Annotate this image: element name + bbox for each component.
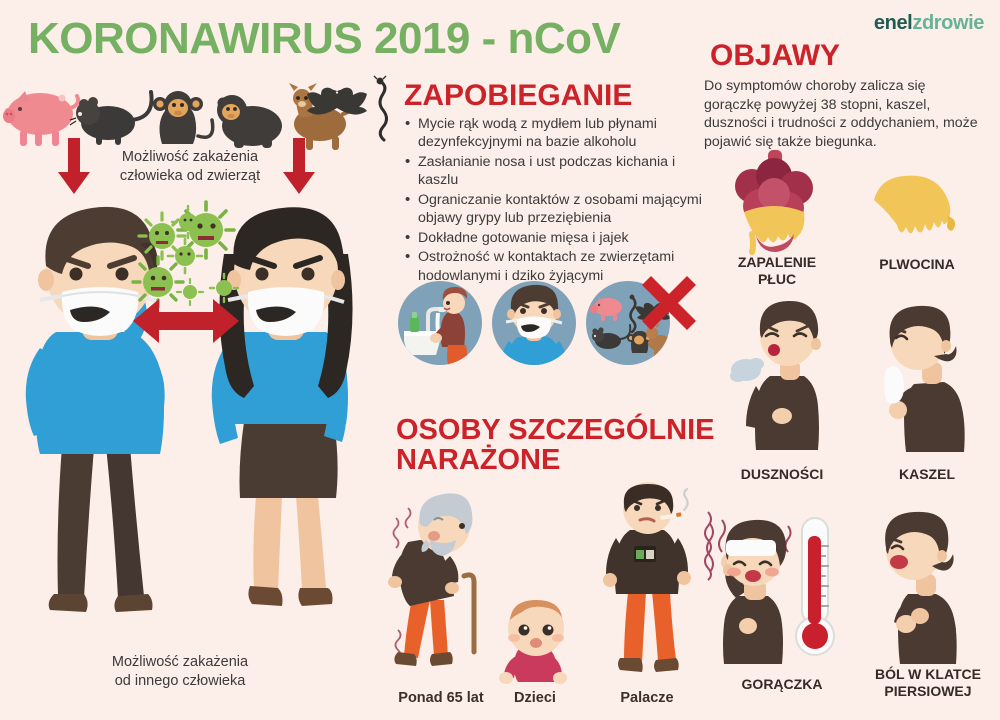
human-transmission-arrow (133, 295, 239, 347)
symptom-label: DUSZNOŚCI (712, 466, 852, 483)
handwashing-icon (398, 281, 482, 365)
monkey-icon (153, 91, 213, 144)
at-risk-heading-line1: OSOBY SZCZEGÓLNIE (396, 415, 716, 445)
symptoms-description: Do symptomów choroby zalicza się gorączk… (704, 77, 984, 152)
prevention-item: Dokładne gotowanie mięsa i jajek (404, 229, 704, 247)
at-risk-heading: OSOBY SZCZEGÓLNIE NARAŻONE (396, 415, 716, 475)
symptom-label: ZAPALENIE PŁUC (712, 254, 842, 287)
phlegm-icon (862, 170, 962, 260)
pneumonia-icon (722, 150, 832, 260)
prevention-item: Zasłanianie nosa i ust podczas kichania … (404, 153, 704, 190)
symptom-label-line2: PIERSIOWEJ (858, 683, 998, 700)
symptoms-heading: OBJAWY (710, 40, 840, 71)
animal-transmission-caption: Możliwość zakażenia człowieka od zwierzą… (95, 148, 285, 187)
symptom-label: KASZEL (862, 466, 992, 483)
logo-part-enel: enel (874, 12, 912, 34)
snake-icon (366, 78, 392, 142)
prevention-item: Mycie rąk wodą z mydłem lub płynami dezy… (404, 115, 704, 152)
symptom-label-line1: BÓL W KLATCE (858, 666, 998, 683)
infographic-poster: KORONAWIRUS 2019 - nCoV enelzdrowie (0, 0, 1000, 720)
cough-icon (862, 300, 972, 452)
symptom-label: PLWOCINA (852, 256, 982, 273)
human-transmission-caption: Możliwość zakażenia od innego człowieka (65, 653, 295, 692)
bat-icon (305, 84, 369, 134)
logo-part-zdrowie: zdrowie (912, 12, 984, 34)
human-caption-line1: Możliwość zakażenia (65, 653, 295, 672)
symptom-label: GORĄCZKA (712, 676, 852, 693)
human-caption-line2: od innego człowieka (65, 672, 295, 691)
symptom-label: BÓL W KLATCE PIERSIOWEJ (858, 666, 998, 699)
page-title: KORONAWIRUS 2019 - nCoV (28, 14, 620, 64)
smoker-icon (596, 484, 706, 680)
gorilla-icon (217, 95, 282, 148)
at-risk-label: Palacze (592, 690, 702, 706)
chest-pain-icon (862, 512, 982, 664)
fever-icon (702, 512, 852, 664)
face-mask-icon (492, 281, 576, 365)
at-risk-heading-line2: NARAŻONE (396, 445, 716, 475)
brand-logo: enelzdrowie (874, 12, 984, 35)
transmission-arrow-right (280, 138, 318, 196)
animal-caption-line1: Możliwość zakażenia (95, 148, 285, 167)
prevention-item: Ograniczanie kontaktów z osobami mającym… (404, 191, 704, 228)
prevention-heading: ZAPOBIEGANIE (404, 80, 632, 111)
shortness-of-breath-icon (730, 300, 840, 452)
transmission-arrow-left (55, 138, 93, 196)
symptom-label-line1: ZAPALENIE (712, 254, 842, 271)
animal-caption-line2: człowieka od zwierząt (95, 167, 285, 186)
symptom-label-line2: PŁUC (712, 271, 842, 288)
child-icon (492, 598, 582, 684)
at-risk-label: Dzieci (485, 690, 585, 706)
elderly-icon (378, 490, 498, 680)
forbidden-x-icon (642, 272, 696, 326)
prevention-list: Mycie rąk wodą z mydłem lub płynami dezy… (404, 115, 704, 286)
